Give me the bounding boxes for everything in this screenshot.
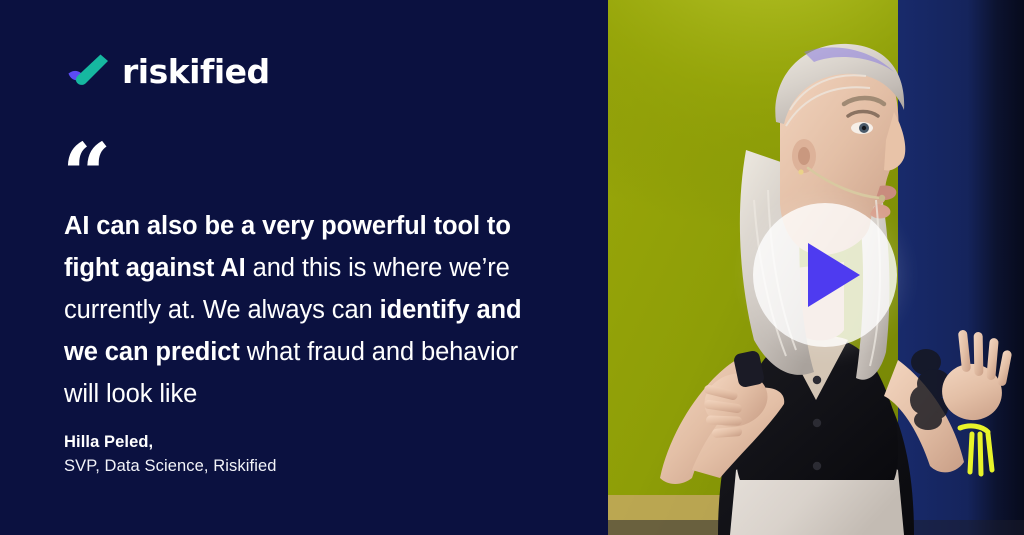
video-thumbnail[interactable] [608, 0, 1024, 535]
brand-wordmark: riskified [122, 55, 270, 88]
play-button[interactable] [753, 203, 897, 347]
quote-video-card: riskified “ AI can also be a very powerf… [0, 0, 1024, 535]
attribution-role: SVP, Data Science, Riskified [64, 454, 277, 479]
riskified-checkmark-icon [64, 50, 112, 92]
play-icon [808, 243, 860, 307]
attribution: Hilla Peled, SVP, Data Science, Riskifie… [64, 430, 277, 479]
quote-panel: riskified “ AI can also be a very powerf… [0, 0, 608, 535]
quote-text: AI can also be a very powerful tool to f… [64, 205, 534, 415]
attribution-name: Hilla Peled, [64, 430, 277, 454]
brand-logo[interactable]: riskified [64, 50, 270, 92]
